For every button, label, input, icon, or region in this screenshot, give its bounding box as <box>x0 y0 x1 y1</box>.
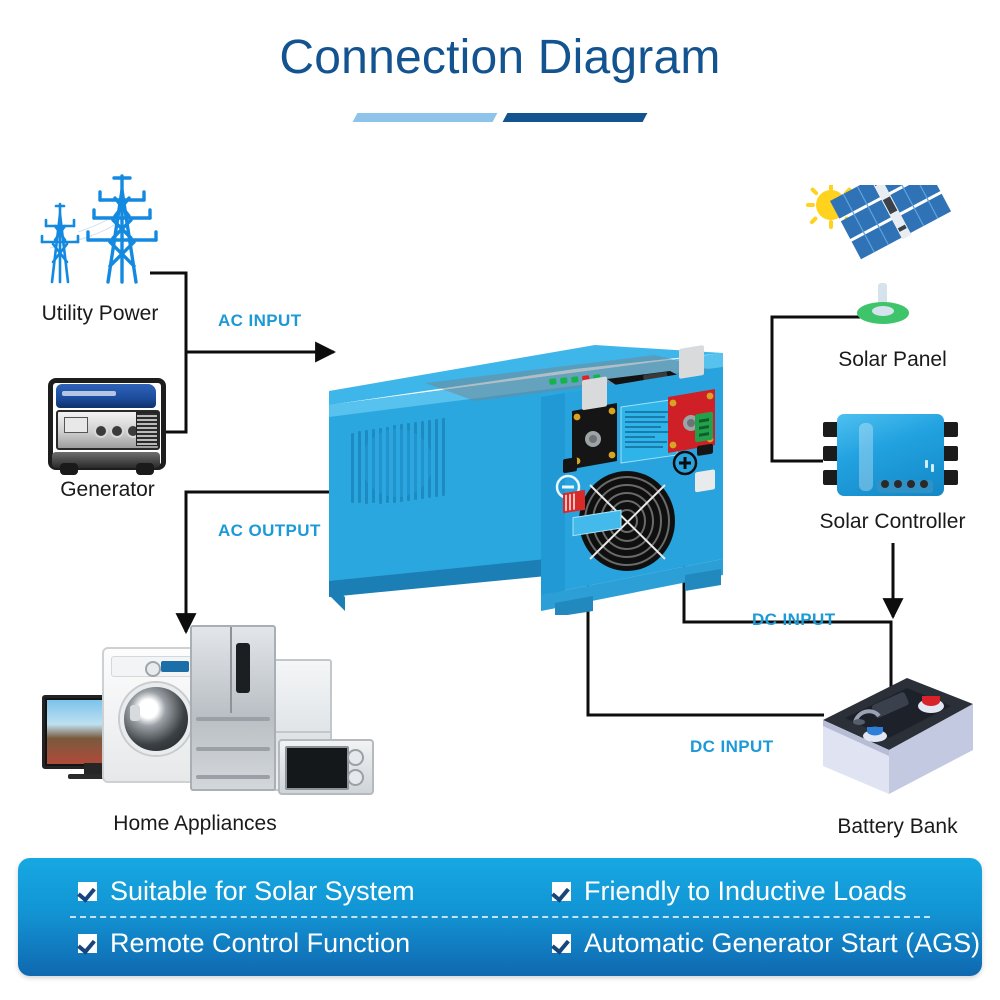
generator-label: Generator <box>30 478 185 502</box>
checkbox-icon <box>78 934 97 953</box>
feature-label: Friendly to Inductive Loads <box>584 876 907 907</box>
title-underline-right-segment <box>503 113 648 122</box>
feature-label: Suitable for Solar System <box>110 876 415 907</box>
features-row-2: Remote Control Function Automatic Genera… <box>18 918 982 968</box>
checkbox-icon <box>552 934 571 953</box>
checkbox-icon <box>552 882 571 901</box>
power-inverter-icon <box>325 345 725 615</box>
solar-panel-label: Solar Panel <box>800 348 985 372</box>
feature-item-automatic-generator-start: Automatic Generator Start (AGS) <box>508 918 982 968</box>
washing-machine-icon <box>102 647 202 783</box>
feature-label: Remote Control Function <box>110 928 410 959</box>
feature-item-remote-control-function: Remote Control Function <box>18 918 508 968</box>
microwave-icon <box>278 739 374 795</box>
feature-item-suitable-for-solar-system: Suitable for Solar System <box>18 866 508 916</box>
battery-bank-label: Battery Bank <box>805 815 990 839</box>
refrigerator-icon <box>190 625 276 791</box>
solar-panel-icon <box>800 185 980 335</box>
home-appliances-label: Home Appliances <box>75 812 315 836</box>
generator-icon <box>48 378 166 470</box>
diagram-canvas: Connection Diagram <box>0 0 1000 1000</box>
feature-label: Automatic Generator Start (AGS) <box>584 928 980 959</box>
home-appliances-icon <box>40 625 350 805</box>
battery-icon <box>815 670 980 800</box>
title-underline-left-segment <box>353 113 498 122</box>
solar-controller-icon <box>823 410 958 500</box>
features-row-1: Suitable for Solar System Friendly to In… <box>18 866 982 916</box>
feature-item-friendly-to-inductive-loads: Friendly to Inductive Loads <box>508 866 982 916</box>
ac-output-label: AC OUTPUT <box>218 521 321 541</box>
ac-input-label: AC INPUT <box>218 311 301 331</box>
page-title: Connection Diagram <box>0 30 1000 85</box>
features-banner: Suitable for Solar System Friendly to In… <box>18 858 982 976</box>
dc-input-label-upper: DC INPUT <box>752 610 835 630</box>
transmission-tower-icon <box>30 170 170 290</box>
solar-controller-label: Solar Controller <box>805 510 980 534</box>
title-underline <box>355 112 645 124</box>
checkbox-icon <box>78 882 97 901</box>
dc-input-label-lower: DC INPUT <box>690 737 773 757</box>
utility-power-label: Utility Power <box>10 302 190 326</box>
